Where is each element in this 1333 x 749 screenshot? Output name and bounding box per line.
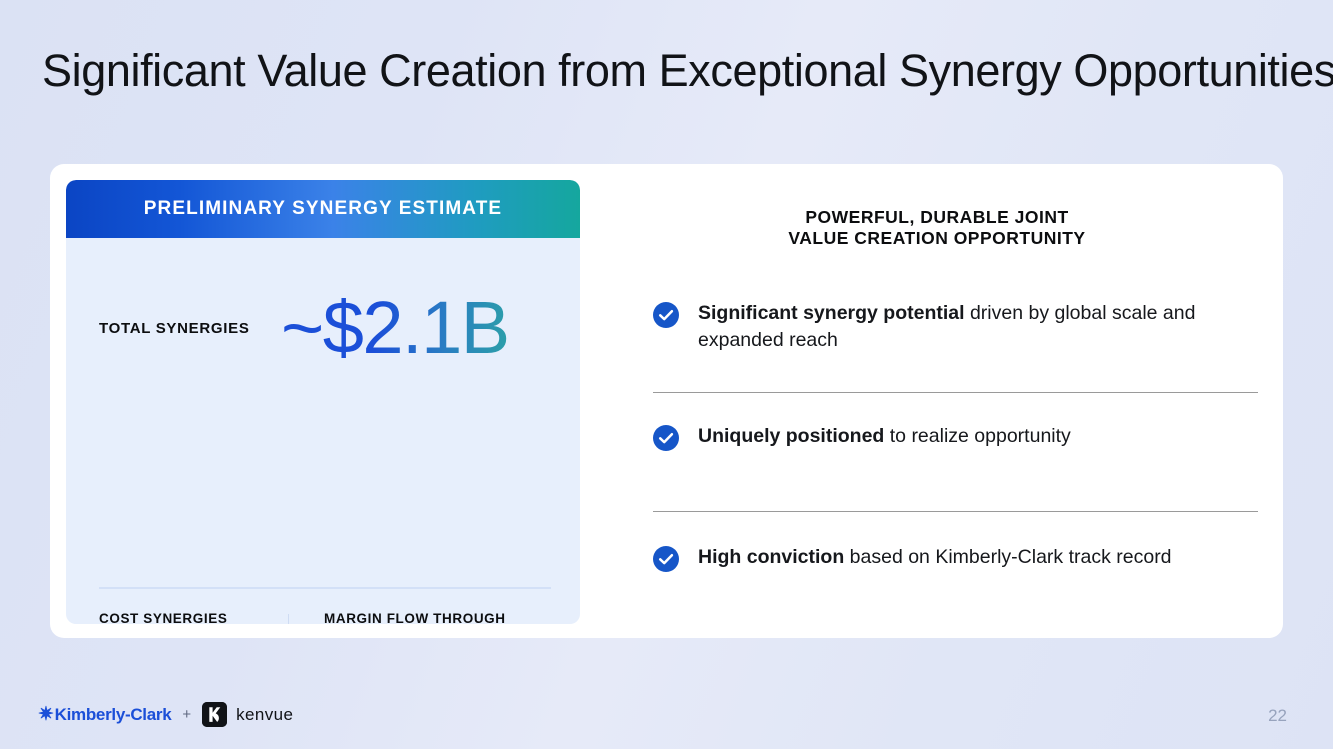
total-synergies-row: TOTAL SYNERGIES ~$2.1B (66, 238, 580, 418)
bullet-bold-text: Uniquely positioned (698, 425, 884, 447)
check-circle-icon (653, 546, 679, 572)
page-title: Significant Value Creation from Exceptio… (42, 42, 1292, 100)
list-item: High conviction based on Kimberly-Clark … (653, 512, 1268, 600)
bullet-bold-text: High conviction (698, 546, 844, 568)
bullet-list: Significant synergy potential driven by … (653, 288, 1268, 600)
total-synergies-label: TOTAL SYNERGIES (66, 320, 281, 337)
bullet-text: Significant synergy potential driven by … (698, 300, 1258, 354)
asterisk-icon: ✷ (38, 705, 54, 724)
plus-icon: + (182, 706, 191, 723)
margin-flow-label-line1: MARGIN FLOW THROUGH (324, 610, 580, 624)
kimberly-clark-wordmark: Kimberly-Clark (55, 705, 172, 725)
bullet-text: Uniquely positioned to realize opportuni… (698, 423, 1071, 450)
panel-horizontal-divider (99, 587, 551, 589)
slide-root: Significant Value Creation from Exceptio… (0, 0, 1333, 749)
cost-synergies-label: COST SYNERGIES (99, 610, 288, 624)
margin-flow-through-column: MARGIN FLOW THROUGH FROM REVENUE SYNERGI… (288, 610, 580, 624)
kimberly-clark-logo: ✷ Kimberly-Clark (38, 705, 171, 725)
footer-logos: ✷ Kimberly-Clark + kenvue (38, 702, 293, 727)
bullet-rest-text: based on Kimberly-Clark track record (844, 546, 1171, 568)
list-item: Significant synergy potential driven by … (653, 288, 1268, 392)
value-creation-panel: POWERFUL, DURABLE JOINT VALUE CREATION O… (606, 180, 1268, 624)
margin-flow-through-label: MARGIN FLOW THROUGH FROM REVENUE SYNERGI… (324, 610, 580, 624)
content-card: PRELIMINARY SYNERGY ESTIMATE TOTAL SYNER… (50, 164, 1283, 638)
heading-line-1: POWERFUL, DURABLE JOINT (606, 207, 1268, 228)
kenvue-k-mark-icon (202, 702, 227, 727)
panel-header-bar: PRELIMINARY SYNERGY ESTIMATE (66, 180, 580, 238)
synergy-breakdown-row: COST SYNERGIES ~$1.9B MARGIN FLOW THROUG… (66, 610, 580, 624)
bullet-rest-text: to realize opportunity (884, 425, 1070, 447)
check-circle-icon (653, 302, 679, 328)
cost-synergies-column: COST SYNERGIES ~$1.9B (66, 610, 288, 624)
preliminary-synergy-estimate-panel: PRELIMINARY SYNERGY ESTIMATE TOTAL SYNER… (66, 180, 580, 624)
list-item: Uniquely positioned to realize opportuni… (653, 393, 1268, 511)
bullet-text: High conviction based on Kimberly-Clark … (698, 544, 1172, 571)
total-synergies-value: ~$2.1B (281, 291, 509, 365)
heading-line-2: VALUE CREATION OPPORTUNITY (606, 228, 1268, 249)
kenvue-wordmark: kenvue (236, 705, 293, 725)
page-number: 22 (1268, 706, 1287, 726)
panel-header-label: PRELIMINARY SYNERGY ESTIMATE (144, 198, 502, 220)
bullet-bold-text: Significant synergy potential (698, 302, 965, 324)
value-creation-heading: POWERFUL, DURABLE JOINT VALUE CREATION O… (606, 207, 1268, 249)
check-circle-icon (653, 425, 679, 451)
kenvue-logo: kenvue (202, 702, 293, 727)
